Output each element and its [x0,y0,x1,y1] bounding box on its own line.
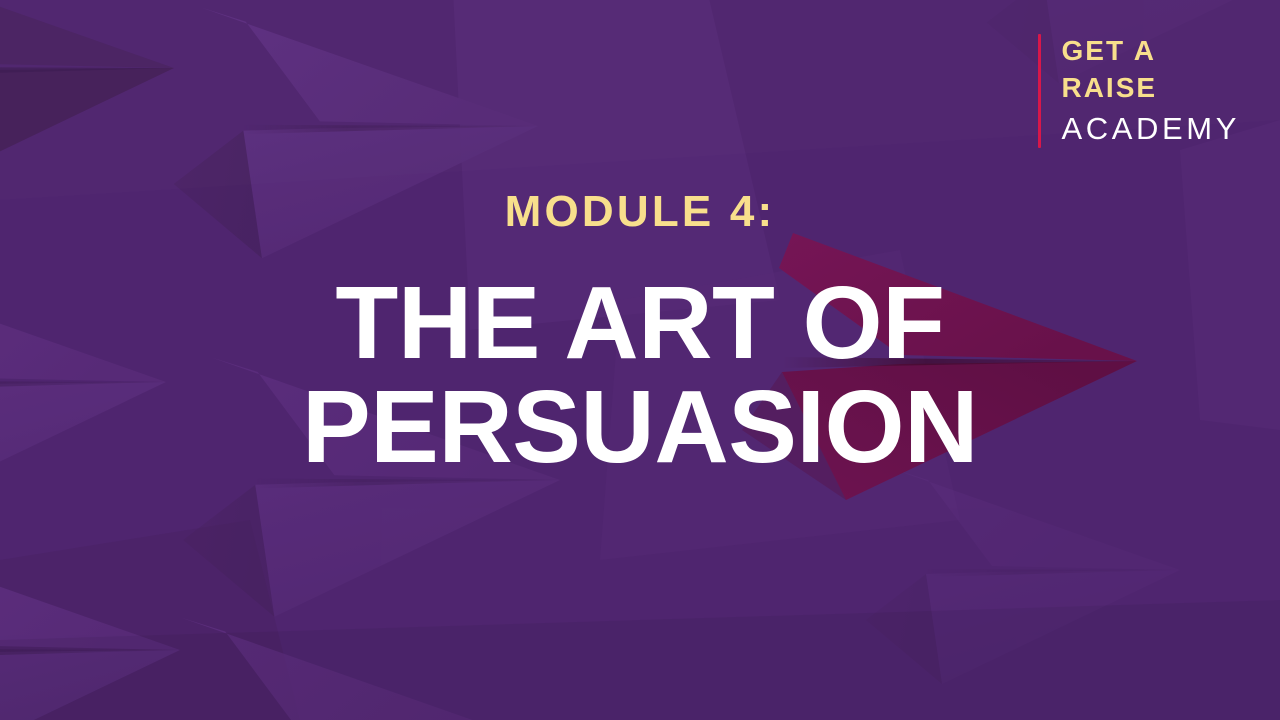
page-title-line-2: PERSUASION [0,376,1280,478]
title-slide: GET A RAISE ACADEMY MODULE 4: THE ART OF… [0,0,1280,720]
logo-line-get-a: GET A [1061,33,1240,70]
logo-line-academy: ACADEMY [1061,108,1240,150]
logo-wordmark: GET A RAISE ACADEMY [1061,34,1240,148]
page-title-line-1: THE ART OF [0,272,1280,374]
logo-line-raise: RAISE [1061,70,1240,107]
brand-logo[interactable]: GET A RAISE ACADEMY [1038,34,1240,148]
module-eyebrow-label: MODULE 4: [0,190,1280,234]
title-block: MODULE 4: THE ART OF PERSUASION [0,190,1280,478]
logo-divider-rule [1038,34,1041,148]
